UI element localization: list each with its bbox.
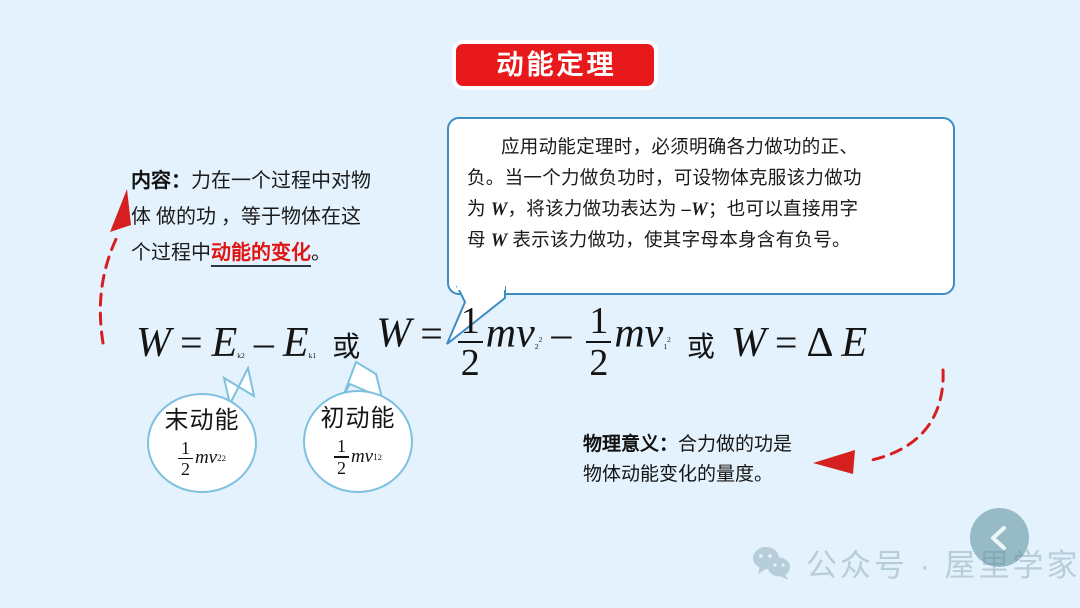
formula1-e-final: E (212, 320, 238, 366)
callout-line-3: 为 W，将该力做功表达为 –W；也可以直接用字 (467, 195, 935, 226)
callout-symbol-w-1: W (491, 200, 508, 220)
physical-meaning-block: 物理意义：合力做的功是 物体动能变化的量度。 (583, 430, 853, 490)
bubble-initial-exponent: 2 (378, 452, 382, 462)
content-line-1-text: 力在一个过程中对物 (191, 170, 371, 192)
content-line-3: 个过程中动能的变化。 (131, 235, 447, 271)
callout-line-3-b: ，将该力做功表达为 (507, 200, 681, 220)
formula2-fraction-half-a: 12 (458, 302, 483, 382)
callout-symbol-w-2: W (491, 231, 508, 251)
formula2-fraction-half-b: 12 (586, 302, 611, 382)
watermark: 公众号 · 屋里学家 (752, 540, 1080, 585)
callout-line-2: 负。当一个力做负功时，可设物体克服该力做功 (467, 164, 935, 195)
callout-line-4-b: 表示该力做功，使其字母本身含有负号。 (507, 231, 850, 251)
bubble-initial-mass: m (351, 446, 365, 468)
bubble-final-fraction: 12 (178, 439, 193, 479)
formula2-minus: – (542, 311, 580, 356)
meaning-line-1: 物理意义：合力做的功是 (583, 430, 853, 460)
bubble-final-denominator: 2 (178, 459, 193, 478)
chevron-left-icon (986, 524, 1014, 552)
bubble-final-formula: 12mv22 (178, 439, 226, 479)
callout-line-1: 应用动能定理时，必须明确各力做功的正、 (467, 133, 935, 164)
formula1-e-initial: E (283, 320, 309, 366)
slide-canvas: 动能定理 内容：力在一个过程中对物 体 做的功 ，等于物体在这 个过程中动能的变… (0, 0, 1080, 608)
callout-line-3-c: ；也可以直接用字 (708, 200, 858, 220)
content-line-2: 体 做的功 ，等于物体在这 (131, 199, 447, 235)
formula1-sub-k1: k1 (309, 351, 317, 360)
callout-line-4: 母 W 表示该力做功，使其字母本身含有负号。 (467, 226, 935, 257)
content-line-3-suffix: 。 (311, 242, 331, 264)
formula3-delta: Δ (806, 320, 833, 366)
slide-title-badge: 动能定理 (456, 44, 654, 86)
meaning-line-1-text: 合力做的功是 (678, 434, 792, 455)
content-highlight-kinetic-energy-change: 动能的变化 (211, 242, 311, 267)
formula2-mass-b: m (614, 311, 644, 357)
formula2-numerator-b: 1 (586, 302, 611, 341)
formula-or-1: 或 (316, 325, 376, 365)
wechat-icon (752, 546, 792, 580)
formula2-denominator-b: 2 (586, 343, 611, 382)
formula1-w: W (136, 320, 171, 366)
formula2-equals: = (411, 311, 452, 356)
formula3-w: W (731, 320, 766, 366)
formula2-velocity-b: v (645, 311, 664, 357)
content-lead-label: 内容： (131, 170, 191, 192)
formula2-w: W (376, 311, 411, 357)
content-line-3-prefix: 个过程中 (131, 242, 211, 264)
formula2-velocity-a: v (516, 311, 535, 357)
content-line-1: 内容：力在一个过程中对物 (131, 163, 447, 199)
bubble-initial-denominator: 2 (334, 458, 349, 477)
formula1-sub-k2: k2 (237, 351, 245, 360)
meaning-lead-label: 物理意义： (583, 434, 678, 455)
formula-half-mv-squared: W=12mv22–12mv12 (376, 303, 671, 383)
formula1-equals: = (171, 320, 212, 365)
callout-note-box: 应用动能定理时，必须明确各力做功的正、 负。当一个力做负功时，可设物体克服该力做… (447, 117, 955, 295)
meaning-line-2: 物体动能变化的量度。 (583, 460, 853, 490)
formula-row: W=Ek2–Ek1 或 W=12mv22–12mv12 或 W=ΔE (136, 312, 956, 374)
formula3-equals: = (766, 320, 807, 365)
bubble-final-exponent: 2 (222, 453, 226, 463)
bubble-initial-velocity: v (365, 446, 373, 468)
watermark-text: 公众号 · 屋里学家 (806, 540, 1080, 585)
bubble-final-kinetic-energy: 末动能 12mv22 (147, 393, 257, 493)
bubble-initial-title: 初动能 (321, 406, 396, 434)
callout-line-4-a: 母 (467, 231, 491, 251)
bubble-final-velocity: v (209, 447, 217, 469)
callout-symbol-negative-w: –W (682, 200, 708, 220)
bubble-initial-numerator: 1 (334, 437, 349, 456)
formula3-energy: E (833, 320, 867, 366)
bubble-final-title: 末动能 (165, 408, 240, 436)
bubble-initial-kinetic-energy: 初动能 12mv12 (303, 390, 413, 493)
formula-delta-energy: W=ΔE (731, 319, 867, 367)
formula2-numerator-a: 1 (458, 302, 483, 341)
formula1-minus: – (245, 320, 283, 365)
formula-kinetic-difference: W=Ek2–Ek1 (136, 319, 316, 367)
formula-or-2: 或 (671, 325, 731, 365)
bubble-initial-fraction: 12 (334, 437, 349, 477)
callout-line-3-a: 为 (467, 200, 491, 220)
bubble-final-numerator: 1 (178, 439, 193, 458)
formula2-denominator-a: 2 (458, 343, 483, 382)
back-button[interactable] (970, 508, 1029, 567)
content-definition-block: 内容：力在一个过程中对物 体 做的功 ，等于物体在这 个过程中动能的变化。 (131, 163, 447, 271)
bubble-initial-formula: 12mv12 (334, 437, 382, 477)
bubble-final-mass: m (195, 447, 209, 469)
page-title: 动能定理 (494, 52, 617, 79)
formula2-mass-a: m (486, 311, 516, 357)
